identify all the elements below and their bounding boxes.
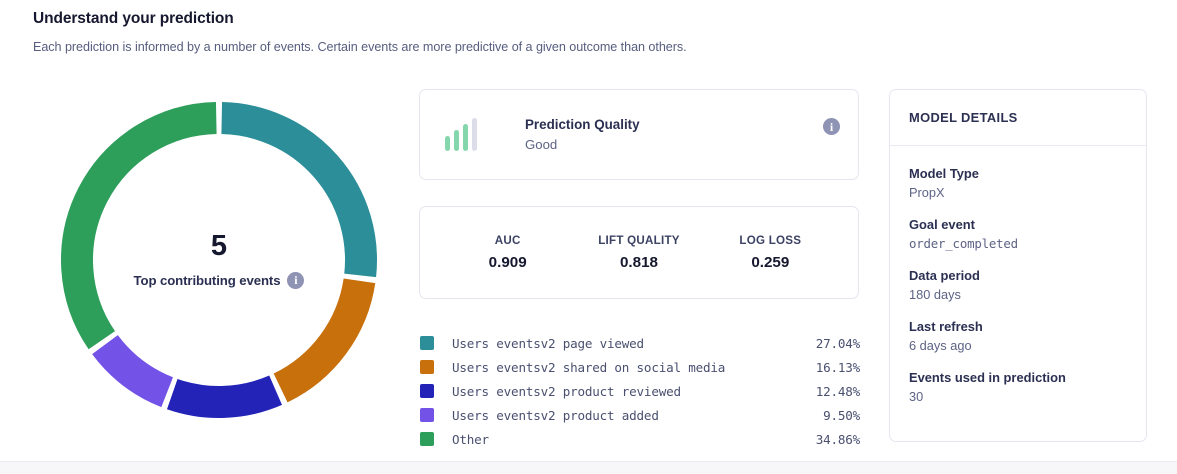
model-detail-key: Events used in prediction [909,370,1127,385]
model-detail-key: Last refresh [909,319,1127,334]
donut-slice[interactable] [222,118,361,275]
legend-item[interactable]: Users eventsv2 product reviewed12.48% [420,379,860,403]
legend-color-swatch [420,336,434,350]
prediction-quality-text: Prediction Quality Good [525,117,640,152]
legend-item[interactable]: Users eventsv2 product added9.50% [420,403,860,427]
model-details-list: Model TypePropXGoal eventorder_completed… [890,146,1146,404]
metric-auc: AUC0.909 [442,234,573,271]
page-title: Understand your prediction [33,10,234,28]
model-detail-item: Goal eventorder_completed [909,217,1127,251]
metric-lift-quality: LIFT QUALITY0.818 [573,234,704,271]
model-detail-item: Data period180 days [909,268,1127,302]
model-detail-value: PropX [909,185,1127,200]
prediction-quality-content: Prediction Quality Good [420,90,858,179]
info-icon[interactable] [823,118,840,135]
legend-item-percent: 34.86% [816,432,860,447]
metric-value: 0.818 [573,254,704,271]
metric-value: 0.909 [442,254,573,271]
legend-item-percent: 9.50% [823,408,860,423]
model-detail-value: 180 days [909,287,1127,302]
legend-item-percent: 12.48% [816,384,860,399]
model-details-heading: MODEL DETAILS [890,90,1146,146]
metric-log-loss: LOG LOSS0.259 [705,234,836,271]
model-metrics-card: AUC0.909LIFT QUALITY0.818LOG LOSS0.259 [419,206,859,299]
legend-color-swatch [420,432,434,446]
legend-item[interactable]: Other34.86% [420,427,860,451]
legend-color-swatch [420,408,434,422]
contributing-events-donut-chart[interactable]: 5 Top contributing events [45,86,393,434]
page-subtitle: Each prediction is informed by a number … [33,40,687,54]
legend-color-swatch [420,384,434,398]
donut-svg [45,86,393,434]
donut-legend: Users eventsv2 page viewed27.04%Users ev… [420,331,860,451]
model-detail-value: 30 [909,389,1127,404]
metric-label: LIFT QUALITY [573,234,704,247]
legend-item-label: Users eventsv2 product added [452,408,659,423]
model-detail-item: Model TypePropX [909,166,1127,200]
model-detail-value: order_completed [909,236,1127,251]
model-detail-item: Events used in prediction30 [909,370,1127,404]
model-detail-key: Model Type [909,166,1127,181]
prediction-quality-title: Prediction Quality [525,117,640,132]
model-detail-key: Data period [909,268,1127,283]
donut-slice[interactable] [77,118,216,340]
metric-label: LOG LOSS [705,234,836,247]
model-metrics-row: AUC0.909LIFT QUALITY0.818LOG LOSS0.259 [420,207,858,298]
donut-slice[interactable] [281,281,360,388]
donut-slice[interactable] [105,345,167,393]
metric-label: AUC [442,234,573,247]
legend-item-label: Users eventsv2 shared on social media [452,360,725,375]
metric-value: 0.259 [705,254,836,271]
model-detail-value: 6 days ago [909,338,1127,353]
signal-bars-icon [445,118,481,151]
legend-item-percent: 16.13% [816,360,860,375]
page-bottom-edge [0,461,1177,474]
legend-item-label: Users eventsv2 page viewed [452,336,644,351]
legend-item[interactable]: Users eventsv2 shared on social media16.… [420,355,860,379]
model-detail-key: Goal event [909,217,1127,232]
prediction-insights-page: Understand your prediction Each predicti… [0,0,1177,474]
prediction-quality-value: Good [525,137,640,152]
model-detail-item: Last refresh6 days ago [909,319,1127,353]
donut-slice[interactable] [172,390,275,402]
legend-item[interactable]: Users eventsv2 page viewed27.04% [420,331,860,355]
legend-item-label: Other [452,432,489,447]
model-details-card: MODEL DETAILS Model TypePropXGoal evento… [889,89,1147,442]
legend-color-swatch [420,360,434,374]
prediction-quality-card: Prediction Quality Good [419,89,859,180]
legend-item-label: Users eventsv2 product reviewed [452,384,681,399]
legend-item-percent: 27.04% [816,336,860,351]
